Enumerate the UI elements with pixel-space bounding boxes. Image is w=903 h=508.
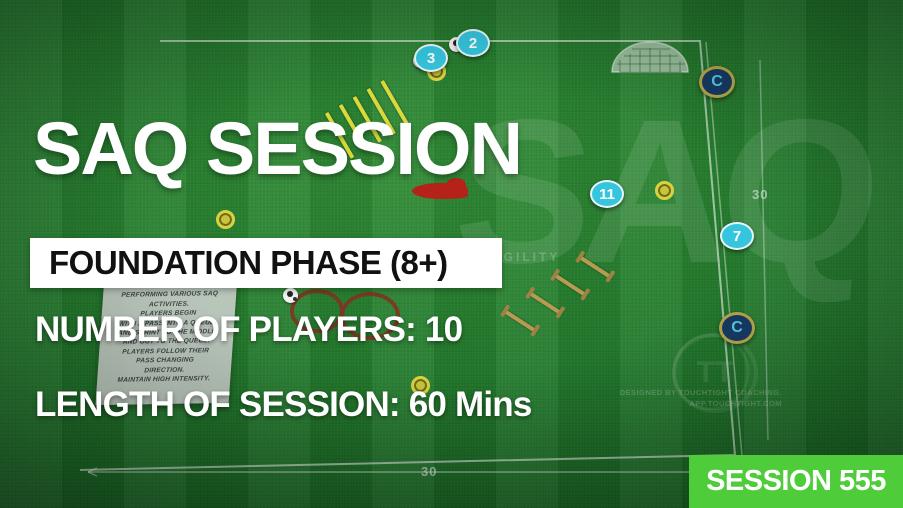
session-graphic: SAQ AGILITY TT 2 3 11 7 C C <box>0 0 903 508</box>
session-badge: SESSION 555 <box>689 455 903 508</box>
session-length-text: LENGTH OF SESSION: 60 Mins <box>35 385 532 425</box>
phase-label: FOUNDATION PHASE (8+) <box>30 244 448 282</box>
phase-banner: FOUNDATION PHASE (8+) <box>30 238 502 288</box>
players-count-text: NUMBER OF PLAYERS: 10 <box>35 310 462 350</box>
page-title: SAQ SESSION <box>33 112 521 186</box>
session-badge-label: SESSION 555 <box>706 465 886 498</box>
